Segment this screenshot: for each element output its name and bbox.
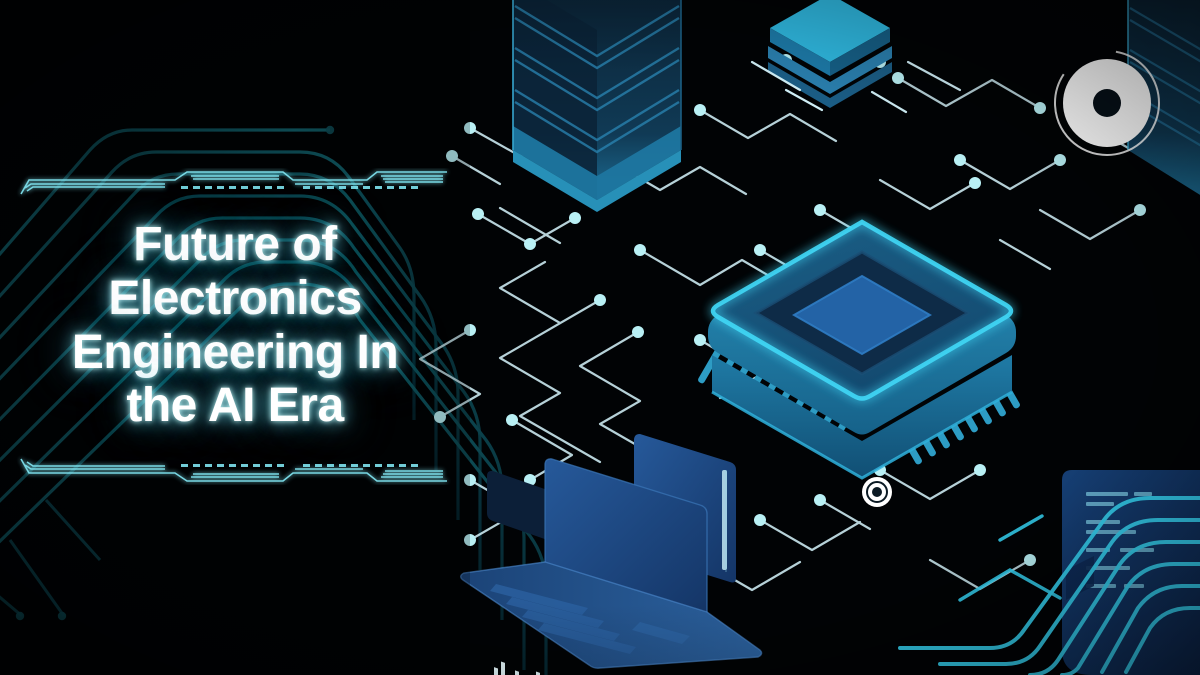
title-line-2: Electronics (108, 272, 361, 325)
title-line-3: Engineering In (72, 326, 398, 379)
hud-frame-top (15, 168, 455, 198)
title-block: Future of Electronics Engineering In the… (0, 168, 470, 518)
poster-canvas: Future of Electronics Engineering In the… (0, 0, 1200, 675)
title-line-1: Future of (133, 218, 336, 271)
title-line-4: the AI Era (126, 379, 343, 432)
page-title: Future of Electronics Engineering In the… (17, 218, 453, 433)
hud-frame-bottom (15, 455, 455, 485)
